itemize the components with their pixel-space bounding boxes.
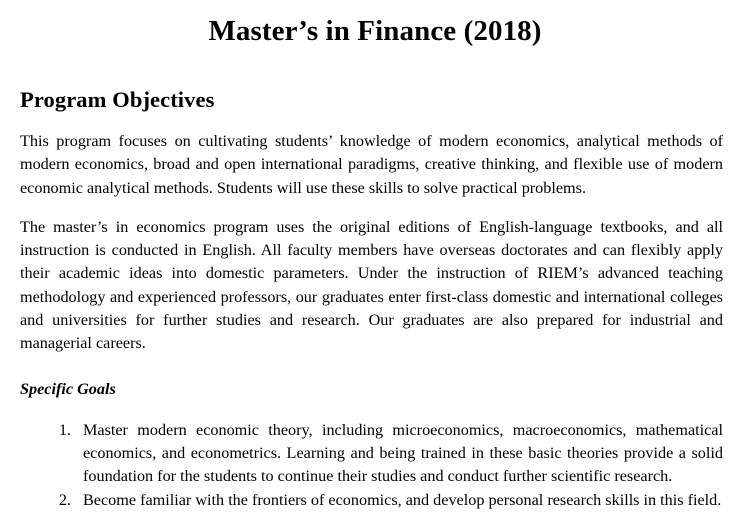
document-body: Program Objectives This program focuses … (0, 87, 750, 512)
sub-heading-specific-goals: Specific Goals (20, 378, 723, 401)
list-item: Master modern economic theory, including… (75, 419, 723, 489)
section-heading-program-objectives: Program Objectives (20, 87, 723, 113)
page-title: Master’s in Finance (2018) (0, 0, 750, 48)
paragraph-instruction-details: The master’s in economics program uses t… (20, 216, 723, 356)
list-item: Become familiar with the frontiers of ec… (75, 489, 723, 512)
document-page: Master’s in Finance (2018) Program Objec… (0, 0, 750, 528)
specific-goals-list: Master modern economic theory, including… (20, 419, 723, 512)
paragraph-program-focus: This program focuses on cultivating stud… (20, 130, 723, 200)
